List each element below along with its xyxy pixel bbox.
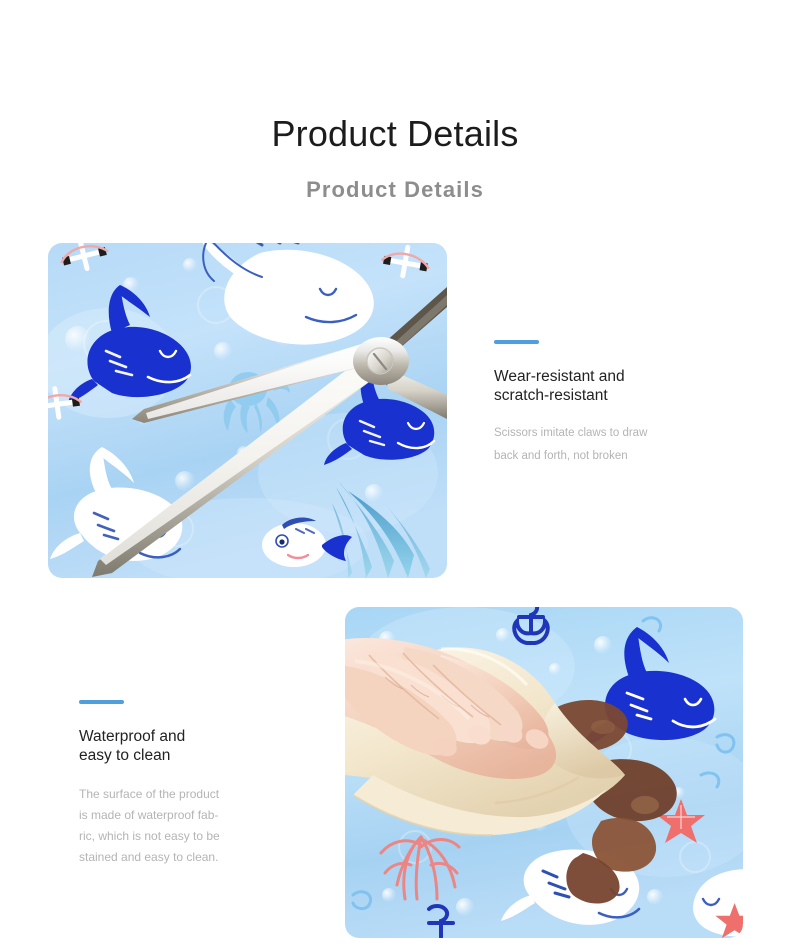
- feature-title: Wear-resistant and scratch-resistant: [494, 367, 724, 406]
- accent-bar: [79, 700, 124, 704]
- feature-wear-resistant: Wear-resistant and scratch-resistant Sci…: [494, 340, 724, 469]
- page-subtitle: Product Details: [0, 177, 790, 203]
- feature-body: The surface of the product is made of wa…: [79, 784, 289, 868]
- product-image-scissors: Big Long: [48, 243, 447, 578]
- feature-title: Waterproof and easy to clean: [79, 727, 289, 766]
- feature-waterproof: Waterproof and easy to clean The surface…: [79, 700, 289, 868]
- product-details-page: Product Details Product Details: [0, 0, 790, 946]
- page-title: Product Details: [0, 113, 790, 155]
- accent-bar: [494, 340, 539, 344]
- product-image-wipe-clean: [345, 607, 743, 938]
- feature-body: Scissors imitate claws to draw back and …: [494, 422, 724, 469]
